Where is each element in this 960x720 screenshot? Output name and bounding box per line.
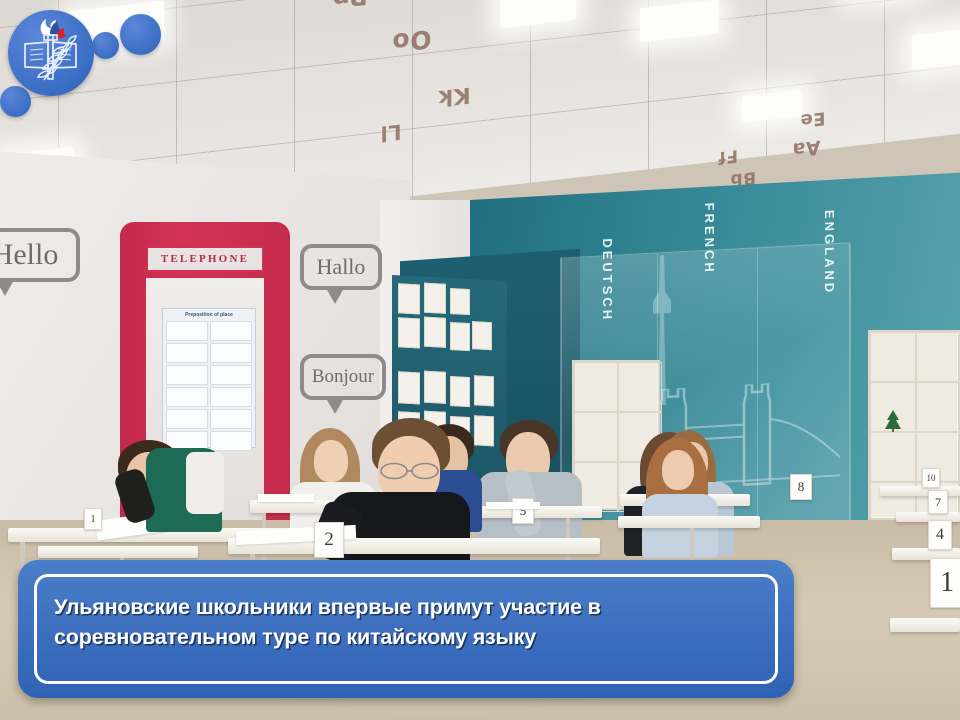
desk-far-right-1	[890, 618, 960, 632]
poster-grid	[163, 318, 255, 454]
ceiling-letter-Ff: Ff	[718, 145, 738, 167]
ceiling-letter-Kk: Kk	[438, 82, 471, 111]
decorative-dot-small-top	[92, 32, 119, 59]
desk-far-right-10	[880, 486, 960, 496]
desk-left-lower	[38, 546, 198, 558]
ceiling-letter-Aa: Aa	[792, 136, 821, 161]
caption-banner: Ульяновские школьники впервые примут уча…	[18, 560, 794, 698]
tree-figurine	[884, 410, 902, 432]
desk-number-card: 8	[790, 474, 812, 500]
desk-number-card: 1	[84, 508, 102, 530]
speech-bubble-bonjour: Bonjour	[300, 354, 386, 400]
speech-bubble-bonjour-label: Bonjour	[312, 366, 374, 388]
poster-title: Preposition of place	[163, 309, 255, 318]
speech-bubble-hello-label: Hello	[0, 238, 58, 272]
glasses-icon	[378, 462, 444, 480]
caption-line-2: соревновательном туре по китайскому язык…	[54, 622, 766, 652]
ceiling-letter-Oo: Oo	[392, 24, 431, 57]
speech-bubble-hello: Hello	[0, 228, 80, 282]
ceiling-letter-Ll: Ll	[380, 119, 402, 145]
caption-line-1: Ульяновские школьники впервые примут уча…	[54, 592, 766, 622]
speech-bubble-hallo: Hallo	[300, 244, 382, 290]
caption-text: Ульяновские школьники впервые примут уча…	[54, 592, 766, 652]
desk-number-card: 4	[928, 520, 952, 550]
speech-bubble-hallo-label: Hallo	[317, 254, 366, 280]
desk-number-card: 10	[922, 468, 940, 488]
desk-number-card: 1	[930, 558, 960, 608]
telephone-sign-label: TELEPHONE	[161, 253, 249, 265]
telephone-sign: TELEPHONE	[146, 246, 264, 272]
desk-number-card: 2	[314, 522, 344, 558]
russian-education-emblem	[8, 10, 94, 96]
castle-silhouette	[956, 178, 960, 303]
ceiling-letter-Ee: Ee	[800, 107, 826, 131]
news-photo-card: Nn Ii Jj Oo Pp Kk Ll Ee Aa Ff Bb Gg Hh C…	[0, 0, 960, 720]
desk-number-card: 7	[928, 490, 948, 514]
desk-seat-8	[618, 516, 760, 528]
decorative-dot-medium-top	[120, 14, 161, 55]
prepositions-poster: Preposition of place	[162, 308, 256, 448]
